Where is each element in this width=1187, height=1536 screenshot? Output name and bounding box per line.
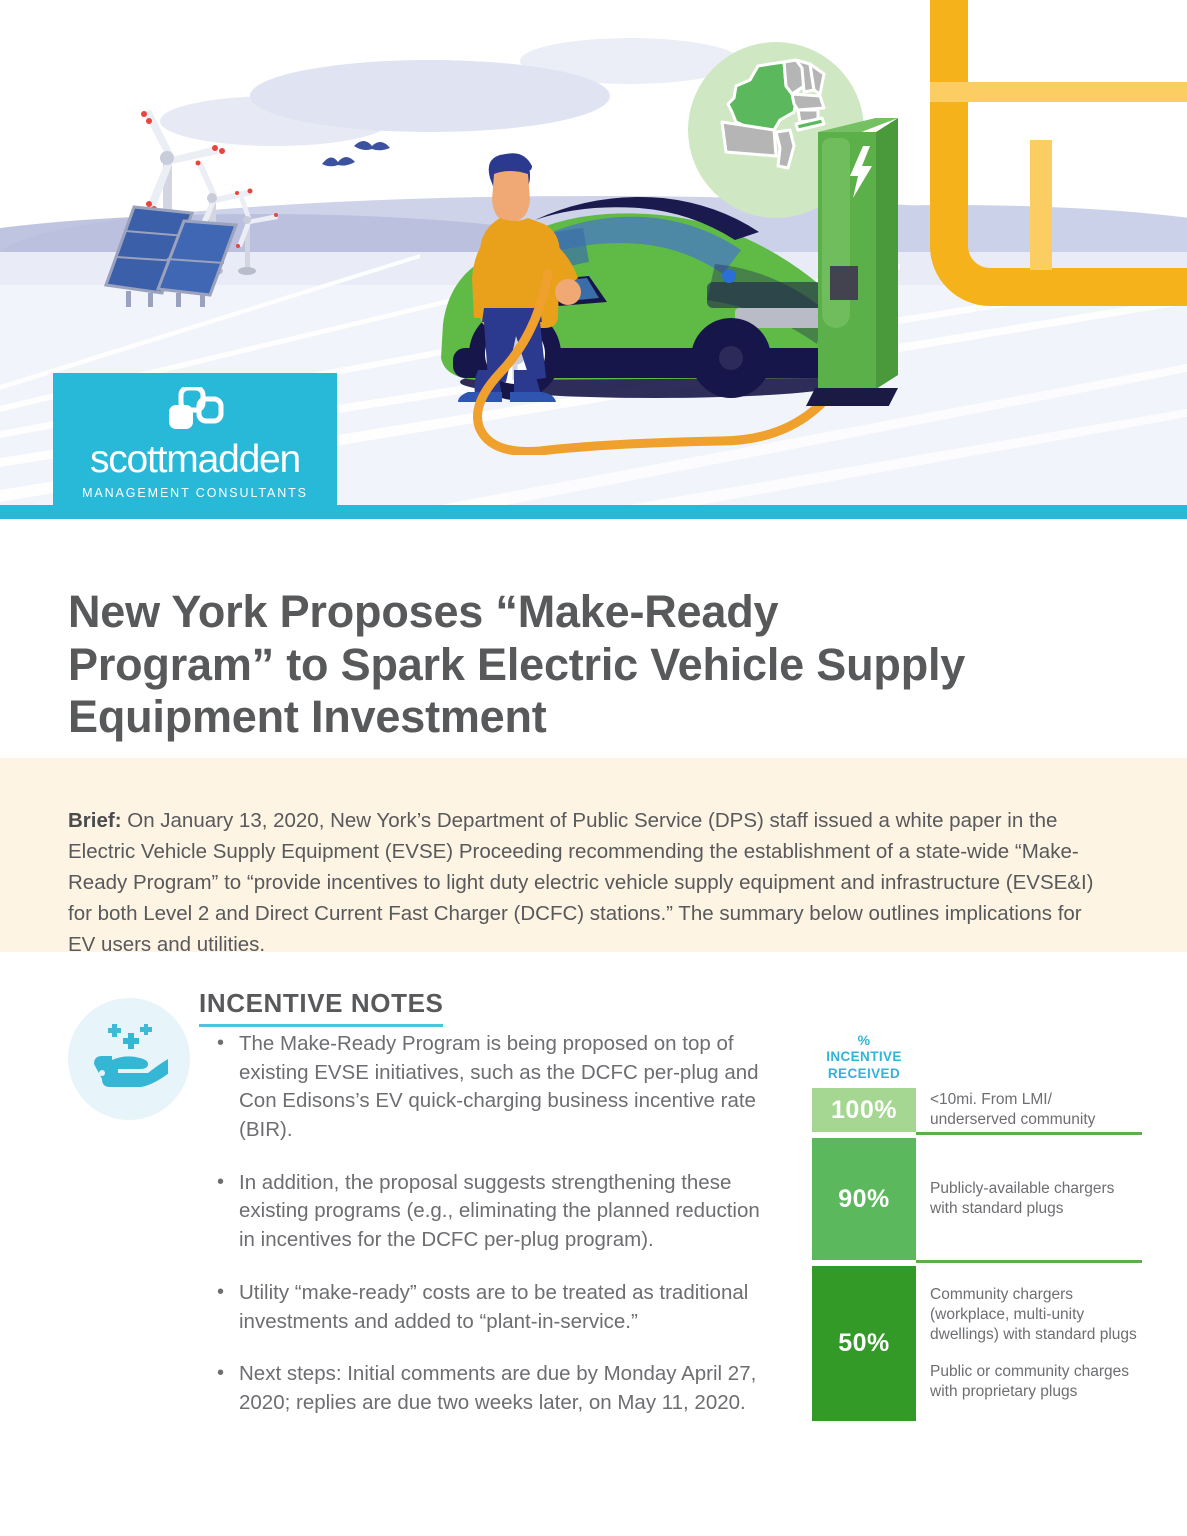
chart-header-percent: % [812, 1032, 916, 1049]
tier-label-text: Community chargers (workplace, multi-uni… [930, 1285, 1142, 1345]
hand-with-sparkles-icon [90, 1024, 168, 1096]
logo-wordmark: scottmadden [90, 440, 300, 479]
brief-label: Brief: [68, 809, 122, 832]
tier-separator [916, 1132, 1142, 1135]
tier-bar-value: 50% [812, 1266, 916, 1421]
tier-separator [916, 1260, 1142, 1263]
lightning-bolt-icon [850, 146, 872, 198]
tier-label: Publicly-available chargers with standar… [916, 1138, 1142, 1260]
incentive-icon-badge [68, 998, 190, 1120]
list-item: Next steps: Initial comments are due by … [211, 1360, 771, 1417]
chart-tier-50: 50% Community chargers (workplace, multi… [812, 1266, 1142, 1421]
tier-label-text: <10mi. From LMI/ underserved community [930, 1090, 1142, 1130]
list-item: The Make-Ready Program is being proposed… [211, 1030, 771, 1145]
orange-bracket-highlight [930, 82, 1187, 102]
incentive-notes-list: The Make-Ready Program is being proposed… [211, 1030, 771, 1442]
chart-tier-100: 100% <10mi. From LMI/ underserved commun… [812, 1088, 1142, 1132]
orange-bracket-highlight [1030, 140, 1052, 270]
charging-station [818, 118, 898, 403]
charger-side [876, 118, 898, 389]
incentive-chart: % INCENTIVE RECEIVED 100% <10mi. From LM… [812, 1032, 1142, 1421]
list-item: Utility “make-ready” costs are to be tre… [211, 1279, 771, 1336]
page-title: New York Proposes “Make-Ready Program” t… [68, 586, 988, 744]
tier-label: Community chargers (workplace, multi-uni… [916, 1266, 1142, 1421]
chart-header: % INCENTIVE RECEIVED [812, 1032, 916, 1082]
chart-header-line2: RECEIVED [828, 1066, 900, 1081]
tier-label: <10mi. From LMI/ underserved community [916, 1088, 1142, 1132]
logo-tagline: MANAGEMENT CONSULTANTS [82, 486, 308, 500]
logo-mark-icon [166, 387, 224, 435]
chart-tier-90: 90% Publicly-available chargers with sta… [812, 1138, 1142, 1260]
chart-tiers: 100% <10mi. From LMI/ underserved commun… [812, 1088, 1142, 1421]
brief-body: On January 13, 2020, New York’s Departme… [68, 809, 1093, 957]
birds [318, 140, 408, 190]
tier-bar-value: 100% [812, 1088, 916, 1132]
solar-panels [100, 195, 250, 310]
incentive-notes-heading: INCENTIVE NOTES [199, 988, 443, 1027]
list-item: In addition, the proposal suggests stren… [211, 1169, 771, 1255]
charger-port [830, 266, 858, 300]
tier-bar-value: 90% [812, 1138, 916, 1260]
charging-cable [430, 255, 850, 455]
brand-divider-bar [0, 505, 1187, 519]
charger-shadow [806, 388, 898, 406]
chart-header-line1: INCENTIVE [826, 1049, 902, 1064]
tier-label-text: Public or community charges with proprie… [930, 1362, 1142, 1402]
brief-paragraph: Brief: On January 13, 2020, New York’s D… [68, 805, 1114, 961]
scottmadden-logo: scottmadden MANAGEMENT CONSULTANTS [53, 373, 337, 505]
tier-label-text: Publicly-available chargers with standar… [930, 1179, 1142, 1219]
orange-bracket-shape [930, 0, 1187, 306]
